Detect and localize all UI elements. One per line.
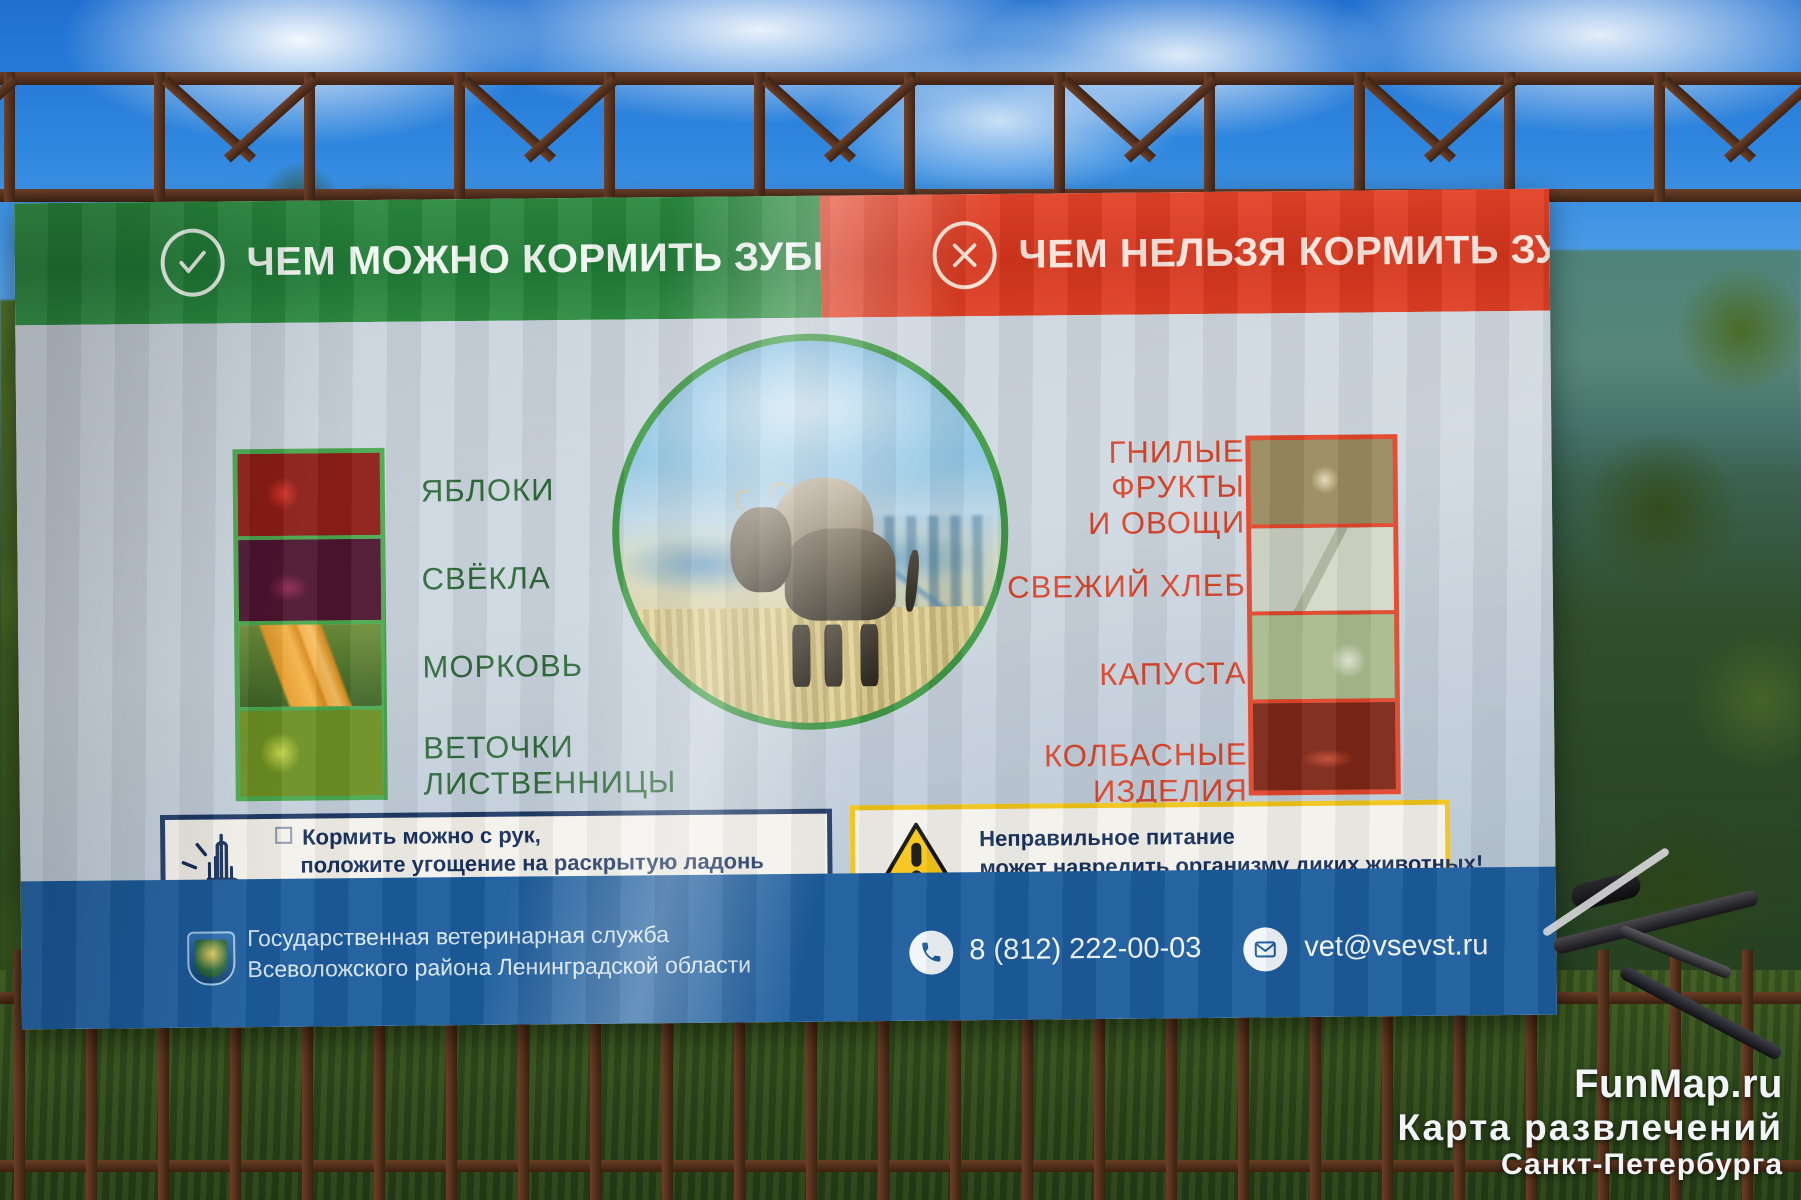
sausages-photo	[1253, 702, 1396, 791]
allowed-item-label: МОРКОВЬ	[422, 648, 583, 685]
truss-post	[154, 72, 165, 202]
org-line-2: Всеволожского района Ленинградской облас…	[247, 949, 751, 985]
feeding-rules-banner: ЧЕМ МОЖНО КОРМИТЬ ЗУБРОВ ЧЕМ НЕЛЬЗЯ КОРМ…	[14, 189, 1557, 1030]
larch-branches-photo	[240, 709, 383, 796]
org-line-1: Государственная ветеринарная служба	[247, 918, 751, 954]
forbidden-item-label: КОЛБАСНЫЕИЗДЕЛИЯ	[1044, 737, 1248, 810]
email-address[interactable]: vet@vsevst.ru	[1304, 929, 1488, 964]
steel-truss: (function(){ var t=document.currentScrip…	[0, 72, 1801, 202]
carrots-photo	[239, 624, 382, 711]
bison-in-field-photo	[610, 332, 1010, 732]
handlebar-tube	[1618, 965, 1784, 1062]
x-circle-icon	[932, 221, 997, 290]
allowed-thumbnail-strip	[232, 448, 387, 801]
watermark-line-3: Санкт-Петербурга	[1397, 1148, 1783, 1182]
beets-photo	[238, 538, 381, 625]
bison-body	[784, 528, 896, 621]
phone-icon	[909, 930, 953, 974]
allowed-item-label: ЯБЛОКИ	[421, 472, 555, 509]
truss-post	[1654, 72, 1665, 202]
bison-leg	[860, 624, 879, 686]
truss-post	[1354, 72, 1365, 202]
forbidden-item-label: СВЕЖИЙ ХЛЕБ	[1007, 568, 1246, 606]
truss-top-rail	[0, 72, 1801, 85]
forbidden-label-list: ГНИЛЫЕ ФРУКТЫИ ОВОЩИ СВЕЖИЙ ХЛЕБ КАПУСТА…	[976, 432, 1248, 831]
forbidden-item-label: КАПУСТА	[1099, 656, 1247, 693]
list-item: ВЕТОЧКИЛИСТВЕННИЦЫ	[423, 709, 724, 822]
truss-post	[754, 72, 765, 202]
apples-photo	[237, 453, 380, 540]
allowed-title: ЧЕМ МОЖНО КОРМИТЬ ЗУБРОВ	[246, 233, 900, 284]
banner-footer: Государственная ветеринарная служба Всев…	[21, 867, 1557, 1030]
allowed-header: ЧЕМ МОЖНО КОРМИТЬ ЗУБРОВ	[14, 196, 821, 326]
watermark-line-2: Карта развлечений	[1397, 1107, 1783, 1148]
envelope-icon	[1243, 927, 1287, 971]
checkbox-bullet	[275, 826, 292, 843]
rotten-produce-photo	[1250, 439, 1393, 528]
bison-leg	[792, 625, 811, 687]
list-item: СВЕЖИЙ ХЛЕБ	[977, 542, 1246, 633]
check-circle-icon	[160, 228, 225, 297]
truss-post	[1054, 72, 1065, 202]
fresh-bread-photo	[1251, 527, 1394, 616]
list-item: ГНИЛЫЕ ФРУКТЫИ ОВОЩИ	[976, 432, 1245, 545]
bison-figure	[729, 466, 910, 651]
forbidden-item-label: ГНИЛЫЕ ФРУКТЫИ ОВОЩИ	[976, 433, 1245, 542]
cabbage-photo	[1252, 614, 1395, 703]
phone-number[interactable]: 8 (812) 222-00-03	[969, 932, 1201, 967]
list-item: КАПУСТА	[978, 630, 1247, 721]
forbidden-header: ЧЕМ НЕЛЬЗЯ КОРМИТЬ ЗУБРОВ	[820, 189, 1550, 318]
forbidden-thumbnail-strip	[1245, 434, 1400, 795]
bison-leg	[824, 624, 843, 686]
truss-post	[454, 72, 465, 202]
watermark: FunMap.ru Карта развлечений Санкт-Петерб…	[1397, 1062, 1783, 1182]
watermark-line-1: FunMap.ru	[1397, 1062, 1783, 1107]
truss-diagonal	[1724, 76, 1801, 162]
bison-head	[730, 507, 792, 592]
allowed-item-label: СВЁКЛА	[422, 560, 551, 597]
veterinary-crest-icon	[187, 931, 236, 985]
forbidden-title: ЧЕМ НЕЛЬЗЯ КОРМИТЬ ЗУБРОВ	[1018, 226, 1557, 277]
photo-scene: (function(){ var t=document.currentScrip…	[0, 0, 1801, 1200]
organization-name: Государственная ветеринарная служба Всев…	[247, 918, 751, 985]
allowed-item-label: ВЕТОЧКИЛИСТВЕННИЦЫ	[423, 728, 676, 802]
